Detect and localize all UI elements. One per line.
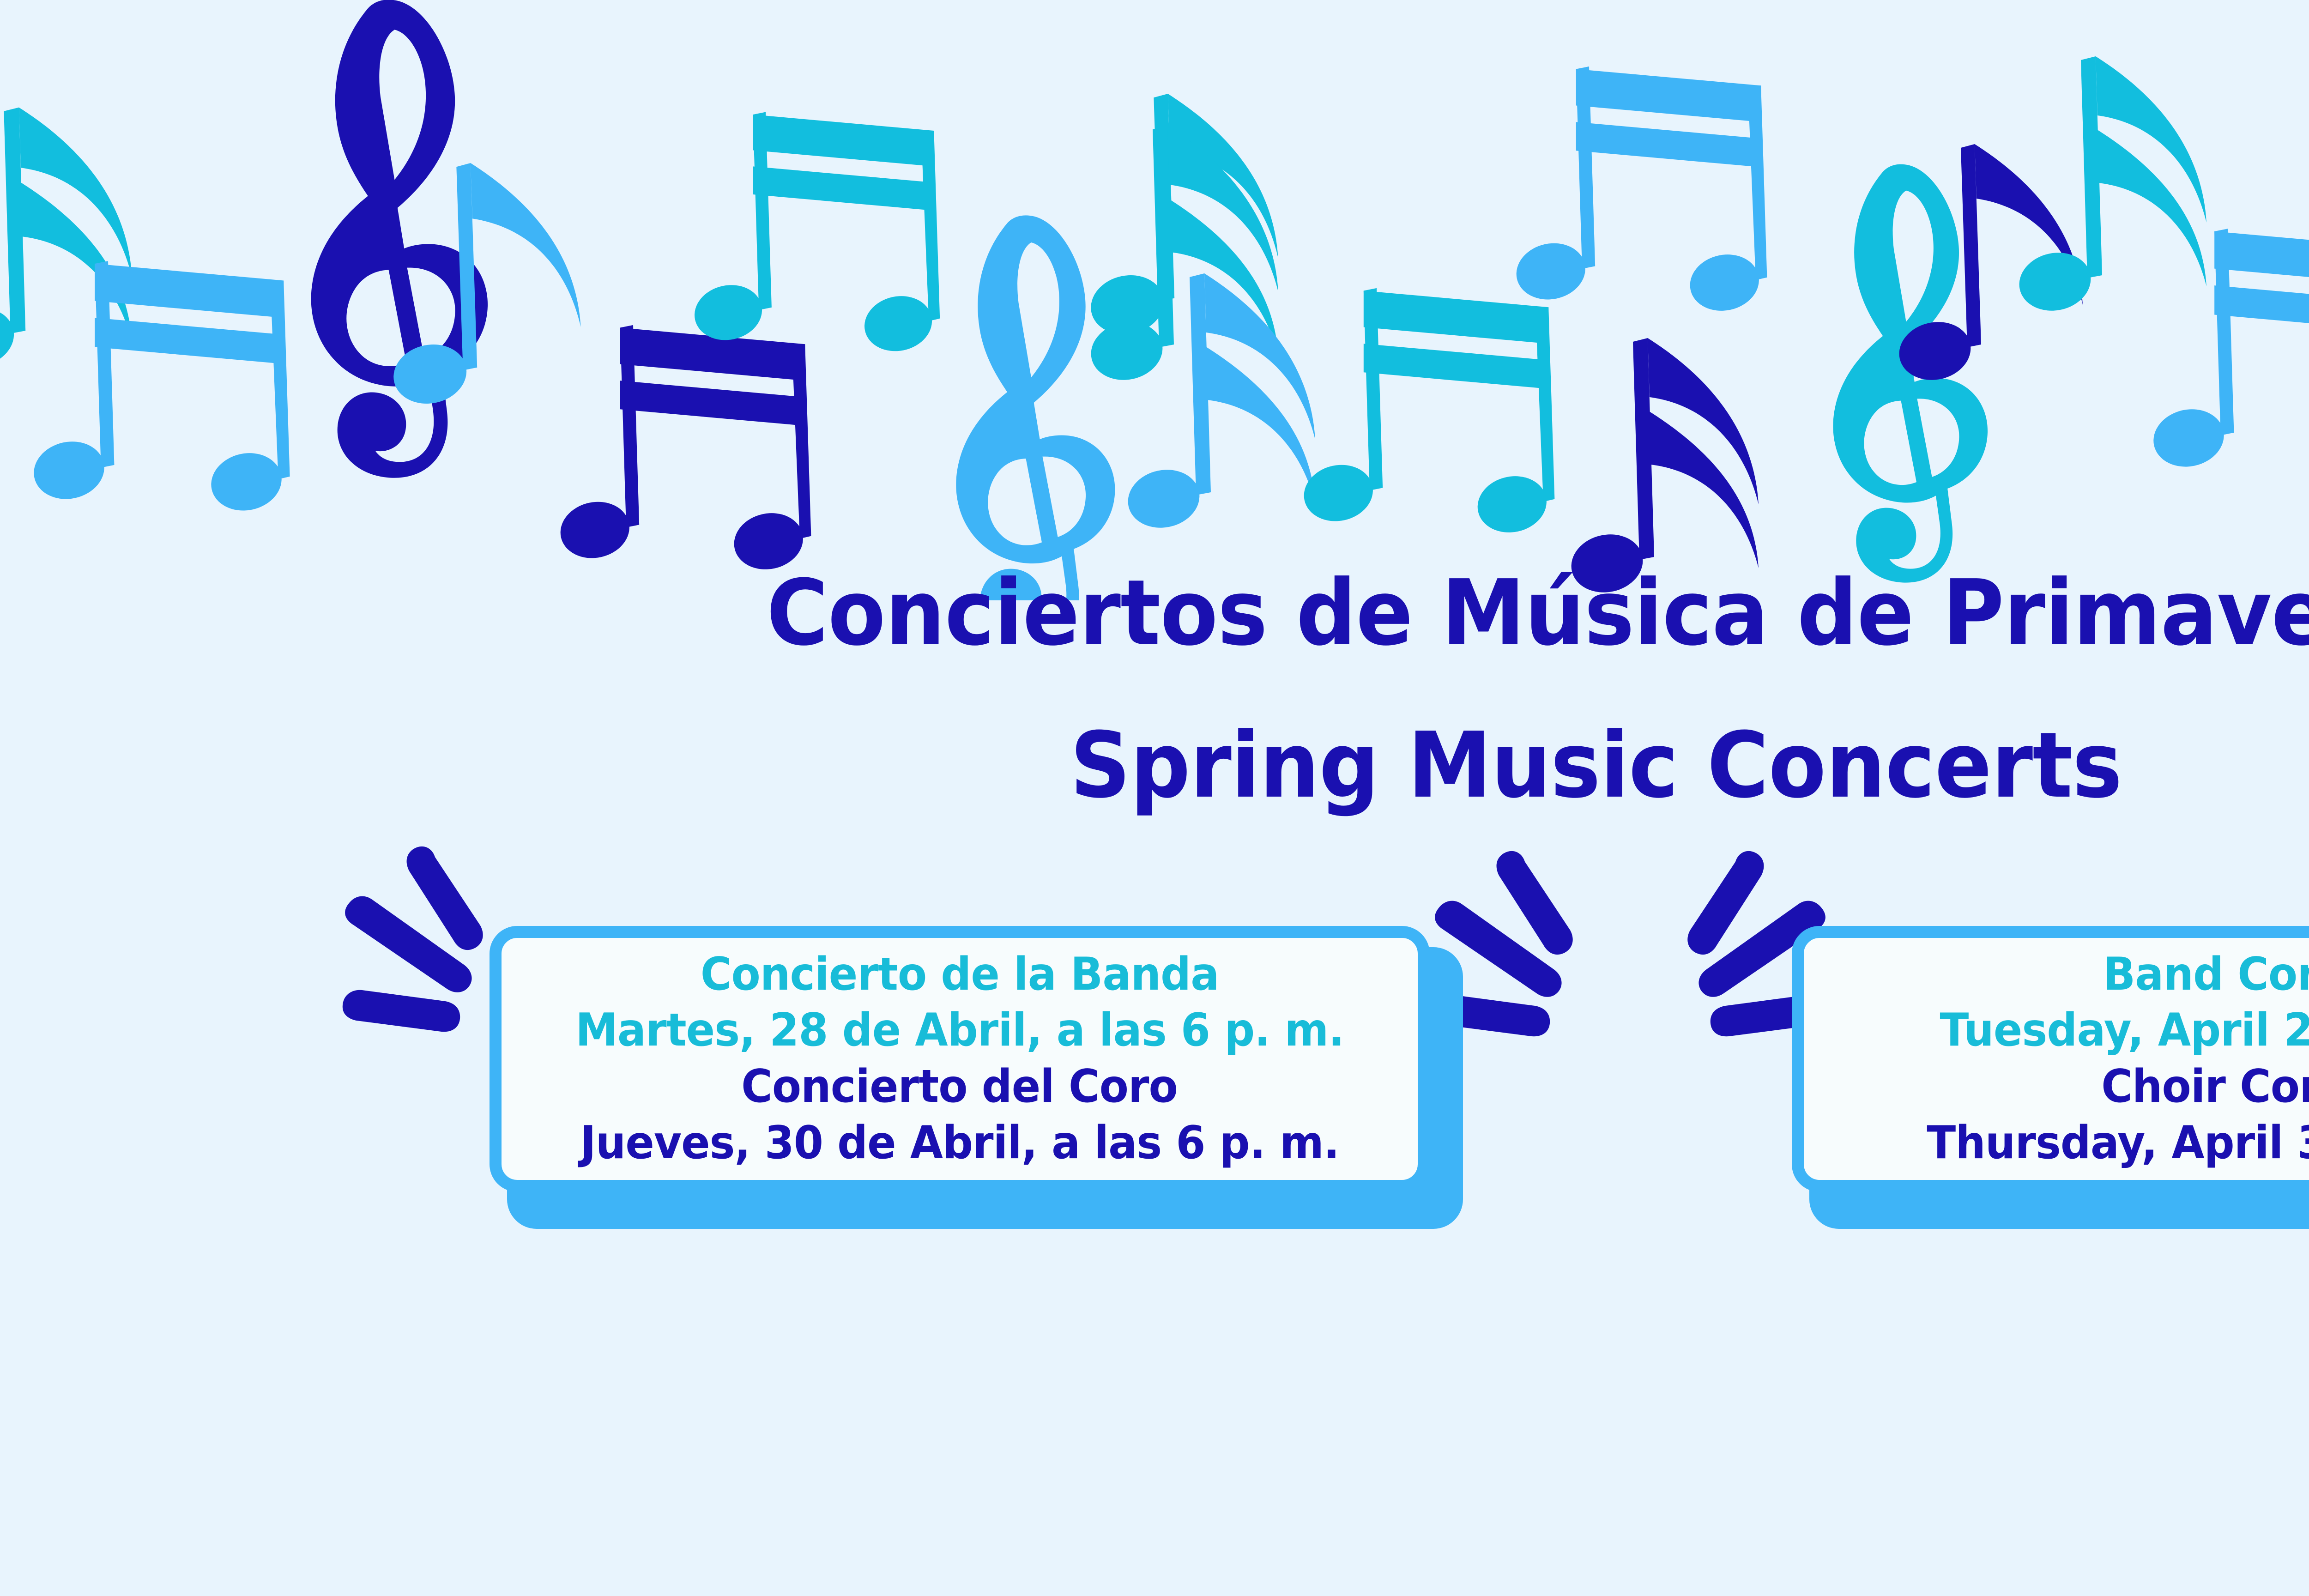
- beamed-eighth-notes-icon: [1511, 66, 1767, 317]
- card-line-choir-date: Jueves, 30 de Abril, a las 6 p. m.: [580, 1115, 1339, 1172]
- beamed-eighth-notes-icon: [1299, 288, 1554, 539]
- poster-title-english: Spring Music Concerts: [112, 720, 2309, 811]
- card-line-band-date: Martes, 28 de Abril, a las 6 p. m.: [575, 1003, 1344, 1059]
- spanish-concert-card: Concierto de la Banda Martes, 28 de Abri…: [490, 926, 1469, 1231]
- treble-clef-icon: [311, 0, 488, 478]
- card-body: Band Concert Tuesday, April 28, at 6 p.m…: [1792, 926, 2309, 1192]
- sixteenth-note-icon: [1566, 338, 1759, 599]
- sixteenth-note-icon: [1086, 126, 1278, 387]
- card-line-choir-title: Concierto del Coro: [742, 1059, 1178, 1115]
- sixteenth-note-icon: [1123, 273, 1315, 534]
- poster-title-spanish: Conciertos de Música de Primavera: [112, 568, 2309, 659]
- card-body: Concierto de la Banda Martes, 28 de Abri…: [490, 926, 1430, 1192]
- card-line-choir-date: Thursday, April 30, at 6 p.m.: [1927, 1115, 2309, 1172]
- beamed-eighth-notes-icon: [2148, 229, 2309, 484]
- eighth-note-icon: [0, 108, 132, 374]
- beamed-eighth-notes-icon: [555, 325, 811, 576]
- sixteenth-note-icon: [2014, 56, 2206, 317]
- music-note-band: [0, 0, 2309, 600]
- card-line-choir-title: Choir Concert: [2101, 1059, 2309, 1115]
- treble-clef-icon: [1833, 164, 1988, 583]
- concert-poster: Conciertos de Música de Primavera Spring…: [0, 0, 2309, 1596]
- treble-clef-icon: [956, 215, 1115, 600]
- card-line-band-title: Concierto de la Banda: [701, 947, 1219, 1003]
- beamed-eighth-notes-icon: [689, 112, 940, 357]
- eighth-note-icon: [1085, 94, 1278, 341]
- eighth-note-icon: [388, 163, 580, 410]
- card-line-band-title: Band Concert: [2103, 947, 2309, 1003]
- english-concert-card: Band Concert Tuesday, April 28, at 6 p.m…: [1792, 926, 2309, 1231]
- beamed-eighth-notes-icon: [29, 261, 290, 517]
- card-line-band-date: Tuesday, April 28, at 6 p.m.: [1940, 1003, 2309, 1059]
- eighth-note-icon: [1894, 144, 2083, 387]
